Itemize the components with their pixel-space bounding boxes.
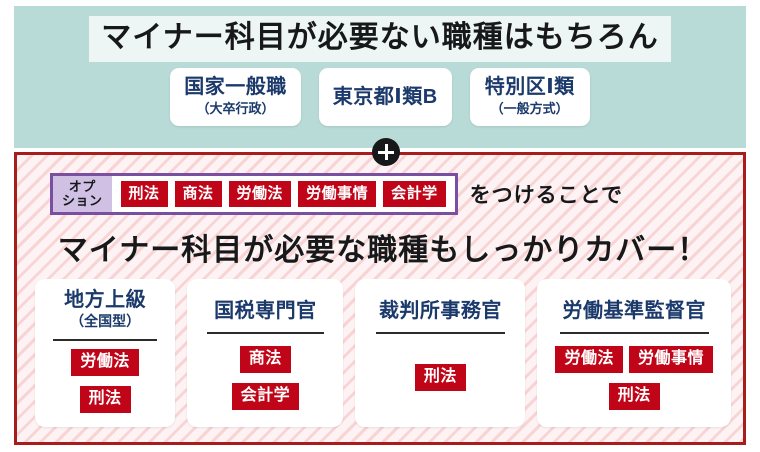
card-subject-tags: 労働法 刑法 xyxy=(45,341,165,417)
job-box-national-general[interactable]: 国家一般職 （大卒行政） xyxy=(170,68,301,126)
card-subject-tags: 刑法 xyxy=(365,334,515,417)
option-label: オプ ション xyxy=(53,176,112,212)
plus-icon xyxy=(372,138,400,166)
card-subject-tags: 商法 会計学 xyxy=(197,334,333,417)
option-suffix-text: をつけることで xyxy=(470,179,623,209)
card-title-main: 国税専門官 xyxy=(214,299,317,323)
card-title: 国税専門官 xyxy=(214,288,317,323)
job-type-row: 国家一般職 （大卒行政） 東京都Ⅰ類B 特別区Ⅰ類 （一般方式） xyxy=(14,68,746,126)
job-box-subtitle: （一般方式） xyxy=(484,101,576,118)
subject-tag[interactable]: 労働法 xyxy=(555,346,623,373)
card-title: 裁判所事務官 xyxy=(379,288,502,323)
card-subject-tags: 労働法 労働事情 刑法 xyxy=(547,334,721,417)
card-title-main: 裁判所事務官 xyxy=(379,299,502,323)
job-box-title: 特別区Ⅰ類 xyxy=(484,75,576,100)
option-container: オプ ション 刑法 商法 労働法 労働事情 会計学 xyxy=(50,173,458,215)
subject-tag[interactable]: 刑法 xyxy=(80,386,131,413)
infographic-root: マイナー科目が必要ない職種はもちろん 国家一般職 （大卒行政） 東京都Ⅰ類B 特… xyxy=(0,0,760,452)
option-subject-tags: 刑法 商法 労働法 労働事情 会計学 xyxy=(112,176,455,212)
card-title-main: 労働基準監督官 xyxy=(562,299,706,323)
subject-tag[interactable]: 労働法 xyxy=(229,181,292,207)
exam-card-row: 地方上級 （全国型） 労働法 刑法 国税専門官 商法 xyxy=(35,279,731,427)
option-row: オプ ション 刑法 商法 労働法 労働事情 会計学 をつけることで xyxy=(50,173,623,215)
bottom-section-headline: マイナー科目が必要な職種もしっかりカバー！ xyxy=(17,225,749,269)
card-title: 地方上級 （全国型） xyxy=(64,288,146,330)
card-title: 労働基準監督官 xyxy=(562,288,706,323)
subject-tag[interactable]: 刑法 xyxy=(609,383,660,410)
subject-tag[interactable]: 労働事情 xyxy=(629,346,713,373)
exam-card-court-clerk[interactable]: 裁判所事務官 刑法 xyxy=(355,279,525,427)
subject-tag[interactable]: 刑法 xyxy=(121,181,168,207)
job-box-title: 国家一般職 xyxy=(184,75,287,100)
top-title-container: マイナー科目が必要ない職種はもちろん xyxy=(14,16,746,62)
job-box-tokyo-class1b[interactable]: 東京都Ⅰ類B xyxy=(319,68,452,126)
subject-tag[interactable]: 会計学 xyxy=(232,383,300,410)
exam-card-labour-standards-inspector[interactable]: 労働基準監督官 労働法 労働事情 刑法 xyxy=(537,279,731,427)
top-section-title: マイナー科目が必要ない職種はもちろん xyxy=(89,16,670,62)
top-panel: マイナー科目が必要ない職種はもちろん 国家一般職 （大卒行政） 東京都Ⅰ類B 特… xyxy=(14,6,746,148)
subject-tag[interactable]: 刑法 xyxy=(415,364,466,391)
subject-tag[interactable]: 労働事情 xyxy=(298,181,376,207)
exam-card-tax-specialist[interactable]: 国税専門官 商法 会計学 xyxy=(187,279,343,427)
option-label-line1: オプ xyxy=(69,180,96,194)
subject-tag[interactable]: 労働法 xyxy=(71,349,139,376)
job-box-special-ward-class1[interactable]: 特別区Ⅰ類 （一般方式） xyxy=(470,68,590,126)
bottom-panel: オプ ション 刑法 商法 労働法 労働事情 会計学 をつけることで マイナー科目… xyxy=(14,152,746,445)
subject-tag[interactable]: 会計学 xyxy=(383,181,446,207)
subject-tag[interactable]: 商法 xyxy=(175,181,222,207)
card-title-main: 地方上級 xyxy=(64,288,146,312)
subject-tag[interactable]: 商法 xyxy=(240,346,291,373)
option-label-line2: ション xyxy=(62,194,103,208)
exam-card-local-senior[interactable]: 地方上級 （全国型） 労働法 刑法 xyxy=(35,279,175,427)
card-title-sub: （全国型） xyxy=(64,313,146,330)
job-box-subtitle: （大卒行政） xyxy=(184,101,287,118)
job-box-title: 東京都Ⅰ類B xyxy=(333,85,438,110)
